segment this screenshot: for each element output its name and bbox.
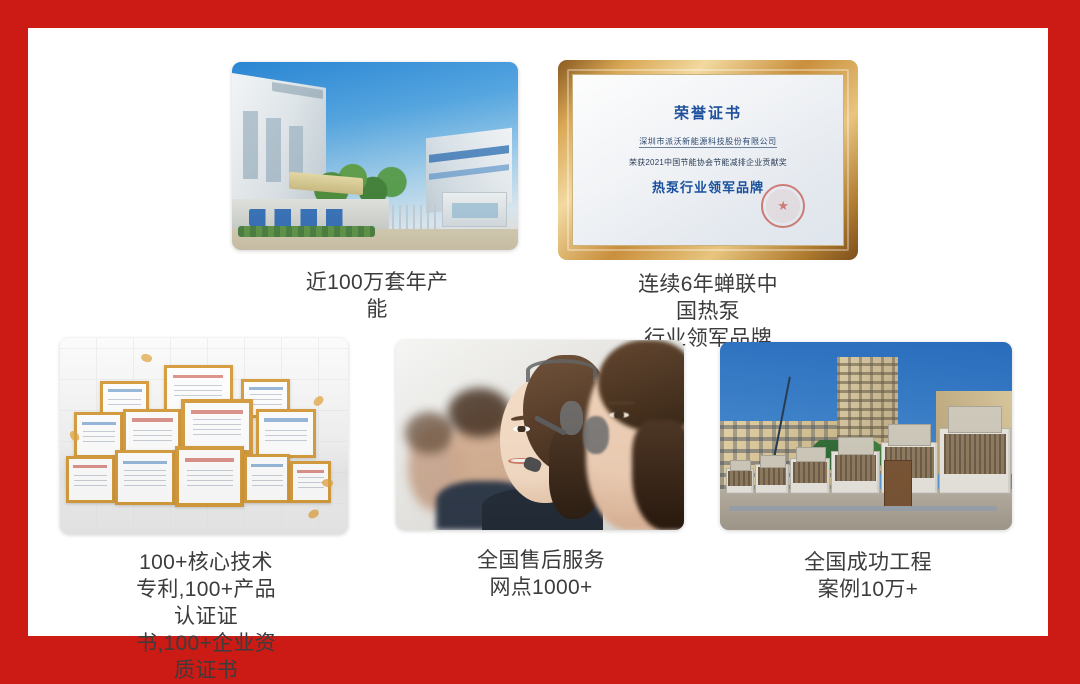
card-annual-capacity[interactable]: 近100万套年产能 (232, 62, 522, 312)
card-service-network[interactable]: 全国售后服务网点1000+ (396, 340, 686, 596)
certificate-seal-icon (761, 184, 805, 228)
caption-project-cases: 全国成功工程案例10万+ (794, 550, 942, 604)
card-project-cases[interactable]: 全国成功工程案例10万+ (720, 342, 1016, 598)
certificate-title: 荣誉证书 (573, 102, 843, 123)
card-patents-certificates[interactable]: 100+核心技术专利,100+产品 认证证书,100+企业资质证书 (60, 338, 352, 608)
certificate-award-line: 荣获2021中国节能协会节能减排企业贡献奖 (573, 157, 843, 168)
caption-service-network: 全国售后服务网点1000+ (469, 548, 614, 602)
certificate-wall-photo (60, 338, 348, 534)
card-leading-brand[interactable]: 荣誉证书 深圳市派沃新能源科技股份有限公司 荣获2021中国节能协会节能减排企业… (558, 60, 858, 328)
factory-exterior-photo (232, 62, 518, 250)
certificate-highlight: 热泵行业领军品牌 (573, 177, 843, 196)
heat-pump-installation-photo (720, 342, 1012, 530)
call-center-photo (396, 340, 684, 530)
slide-panel: 近100万套年产能 荣誉证书 深圳市派沃新能源科技股份有限公司 荣获2021中国… (28, 28, 1048, 636)
certificate-company: 深圳市派沃新能源科技股份有限公司 (573, 136, 843, 147)
caption-annual-capacity: 近100万套年产能 (305, 270, 450, 324)
honor-certificate-photo: 荣誉证书 深圳市派沃新能源科技股份有限公司 荣获2021中国节能协会节能减排企业… (558, 60, 858, 260)
